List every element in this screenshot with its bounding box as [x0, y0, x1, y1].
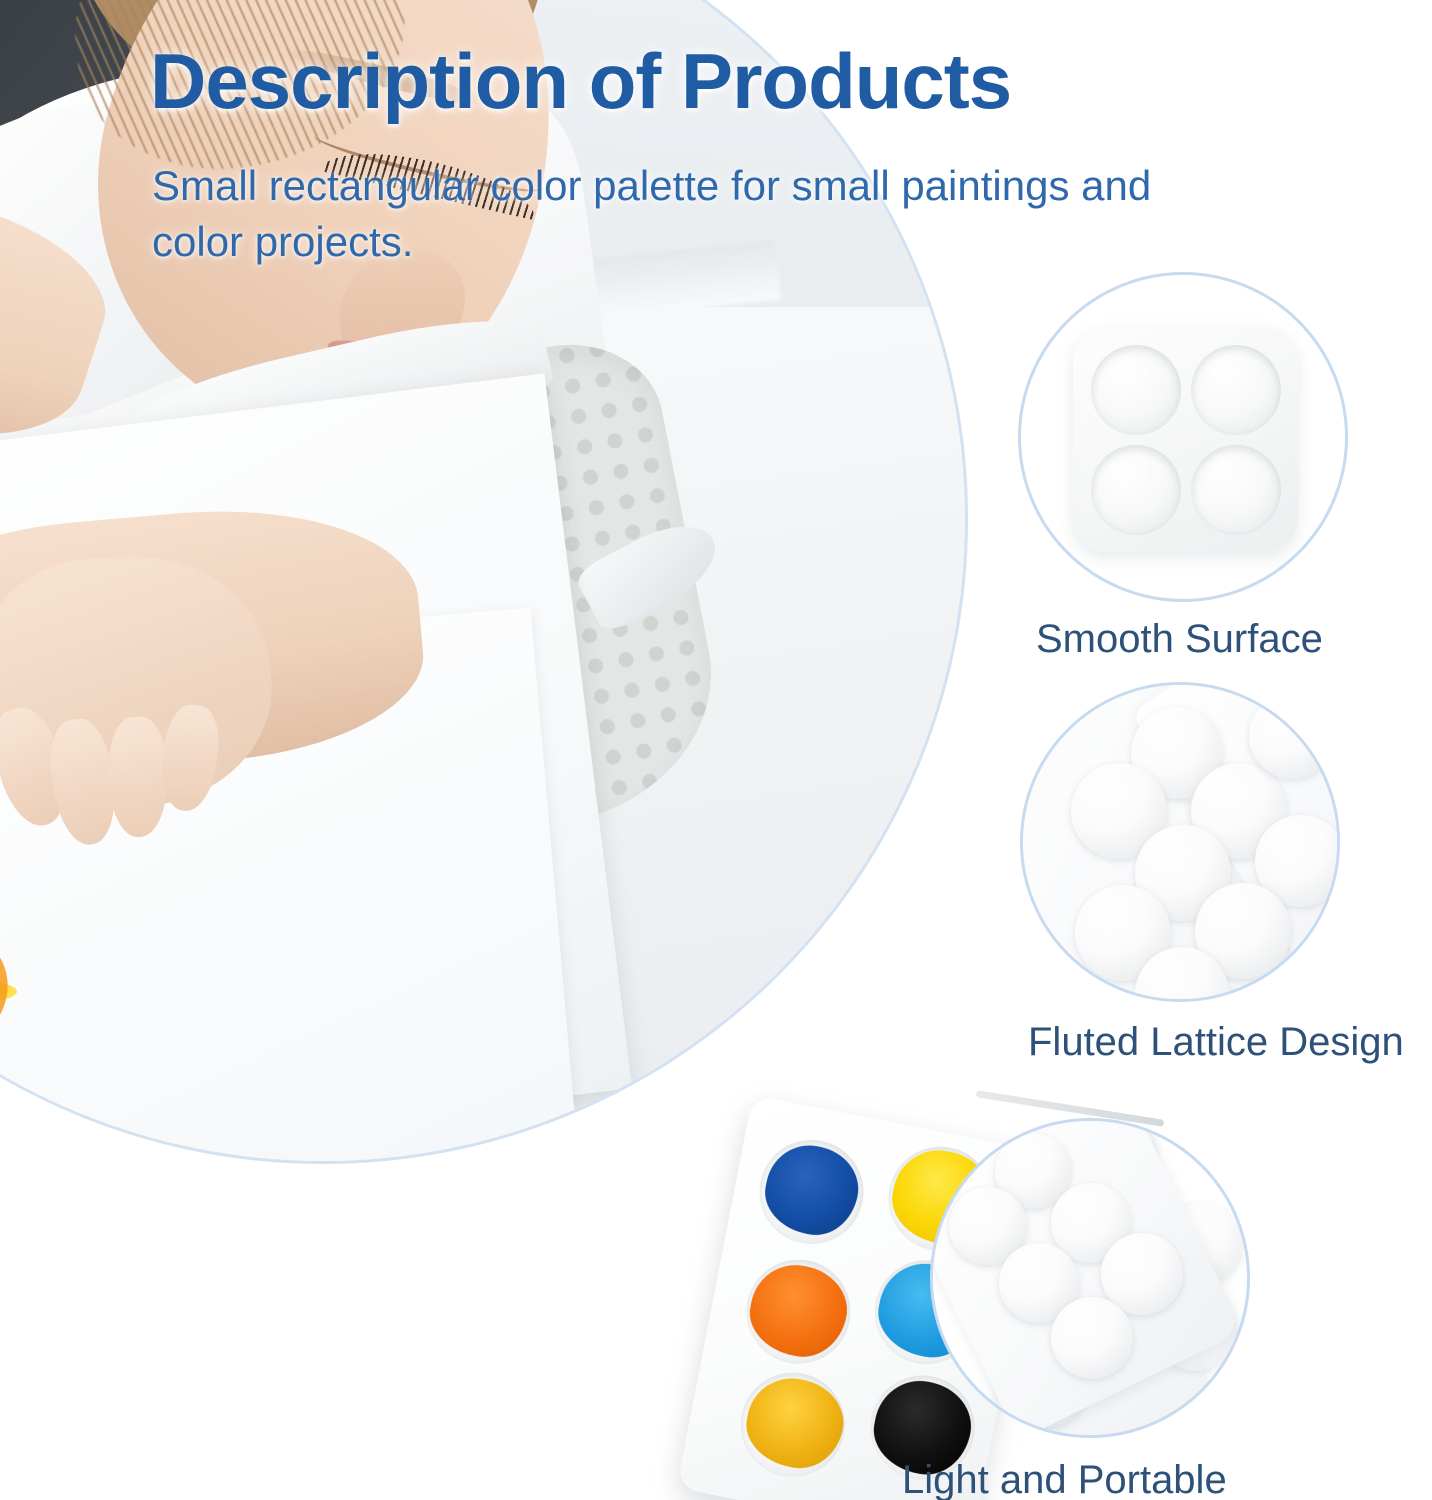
feature-label-smooth-surface: Smooth Surface [1036, 617, 1323, 662]
stacked-palettes-icon [930, 1118, 1250, 1438]
page-title: Description of Products [150, 36, 1420, 127]
palette-tray-4-wells-icon [1018, 272, 1348, 602]
feature-light-and-portable: Light and Portable [930, 1118, 1430, 1500]
feature-fluted-lattice-design: Fluted Lattice Design [1020, 682, 1432, 1092]
palette-dome-well [1051, 1297, 1133, 1379]
palette-well [1091, 445, 1181, 535]
feature-label-light-and-portable: Light and Portable [902, 1458, 1227, 1500]
palette-domed-wells-closeup-icon [1020, 682, 1340, 1002]
palette-dome-well [1249, 693, 1335, 779]
palette-well [1191, 445, 1281, 535]
feature-smooth-surface: Smooth Surface [1018, 272, 1418, 672]
feature-label-fluted-lattice-design: Fluted Lattice Design [1028, 1020, 1404, 1065]
palette-tray-4-wells [1073, 327, 1298, 552]
product-description-page: Description of Products Small rectangula… [0, 0, 1432, 1500]
palette-well [1091, 345, 1181, 435]
finger [108, 717, 168, 838]
orange-paint [743, 1257, 854, 1364]
page-subtitle: Small rectangular color palette for smal… [152, 158, 1202, 270]
palette-well [1191, 345, 1281, 435]
